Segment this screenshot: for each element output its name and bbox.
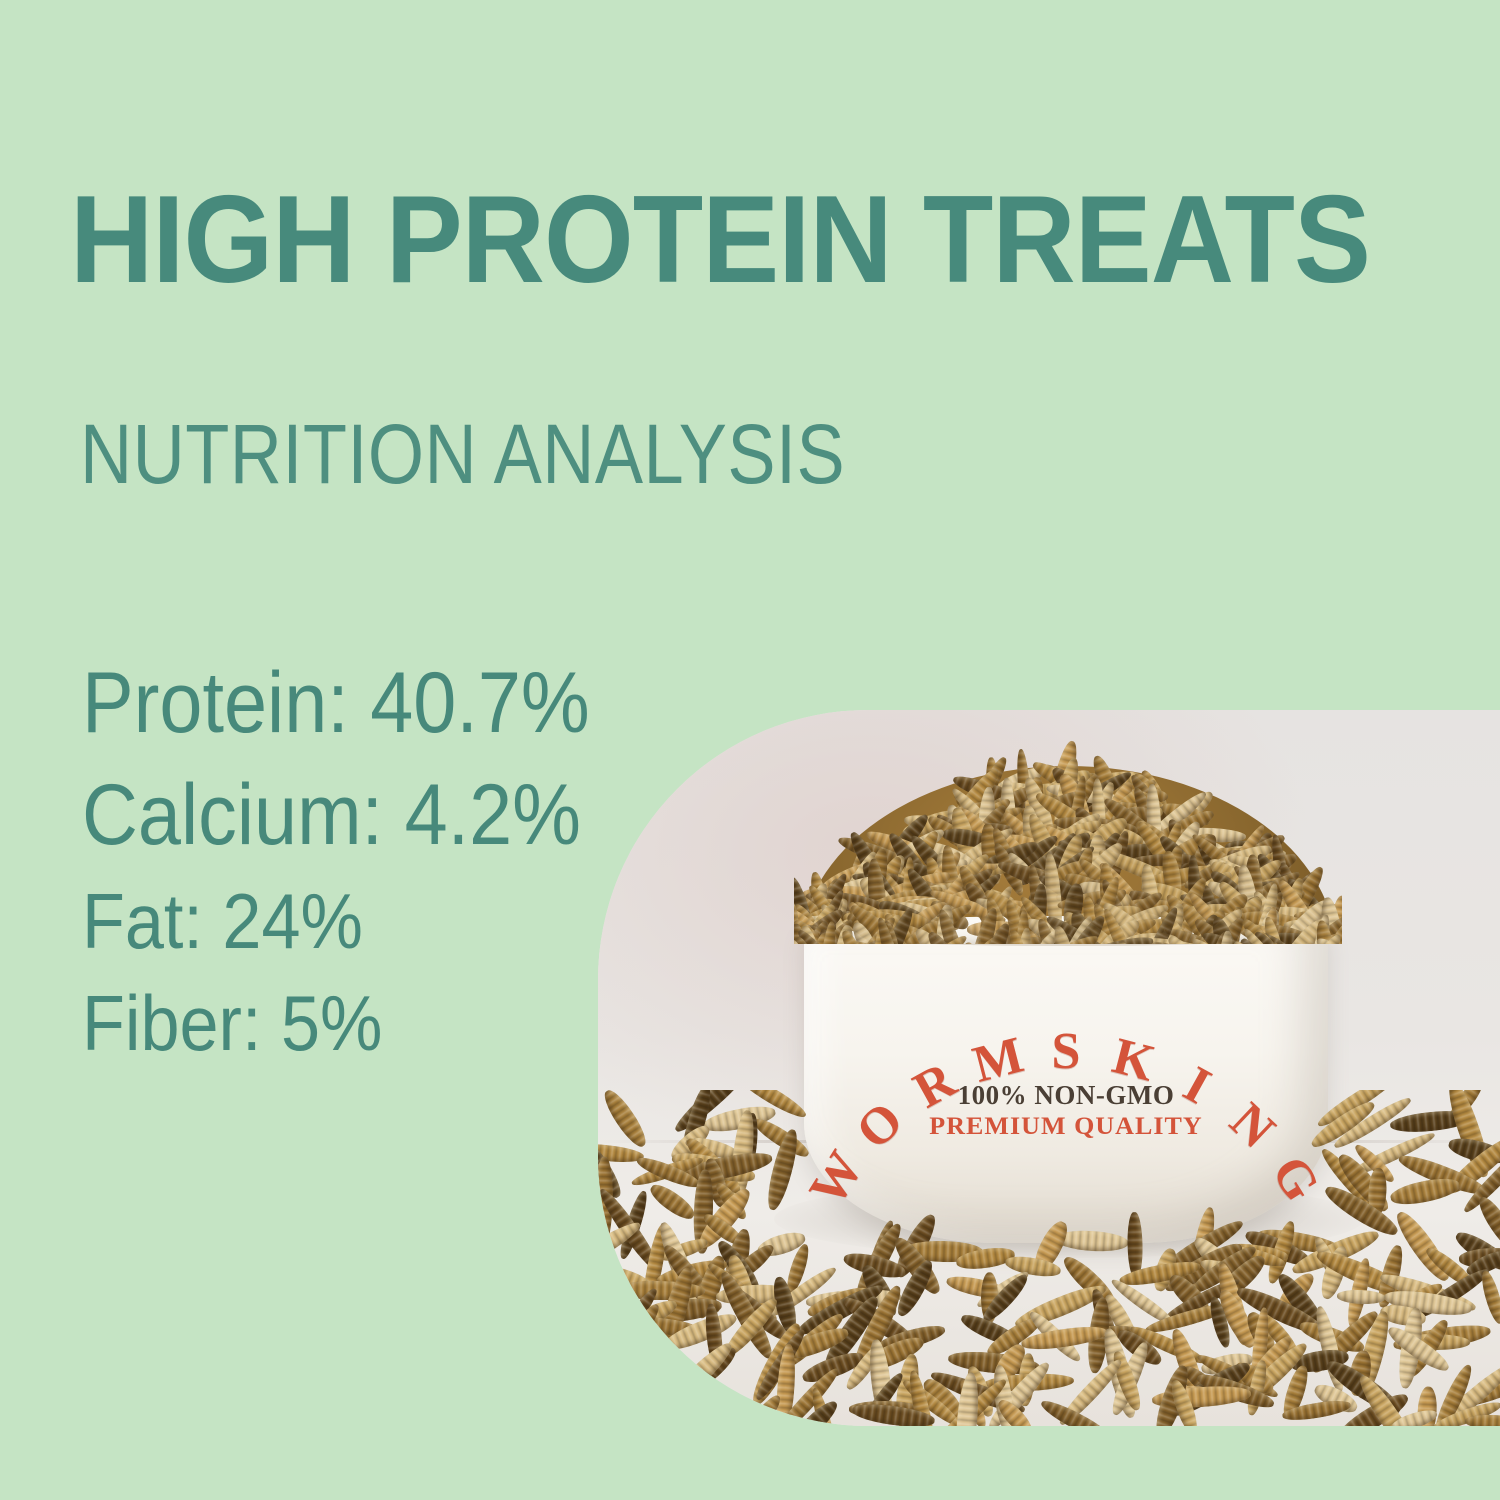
page-subtitle: NUTRITION ANALYSIS xyxy=(80,412,845,496)
nutrition-item-fiber: Fiber: 5% xyxy=(82,984,640,1062)
larva xyxy=(1478,1269,1500,1326)
larva xyxy=(763,1127,803,1212)
larvae-mound xyxy=(794,736,1342,944)
nutrition-item-fat: Fat: 24% xyxy=(82,882,640,960)
product-photo: WORMSKING 100% NON-GMO PREMIUM QUALITY xyxy=(598,710,1500,1426)
nutrition-item-calcium: Calcium: 4.2% xyxy=(82,772,640,858)
scattered-larvae xyxy=(598,1090,1500,1426)
product-infographic-card: HIGH PROTEIN TREATS NUTRITION ANALYSIS P… xyxy=(0,0,1500,1500)
larva xyxy=(599,1090,652,1152)
page-title: HIGH PROTEIN TREATS xyxy=(70,178,1370,302)
nutrition-item-protein: Protein: 40.7% xyxy=(82,660,640,746)
larva xyxy=(1389,1174,1462,1208)
